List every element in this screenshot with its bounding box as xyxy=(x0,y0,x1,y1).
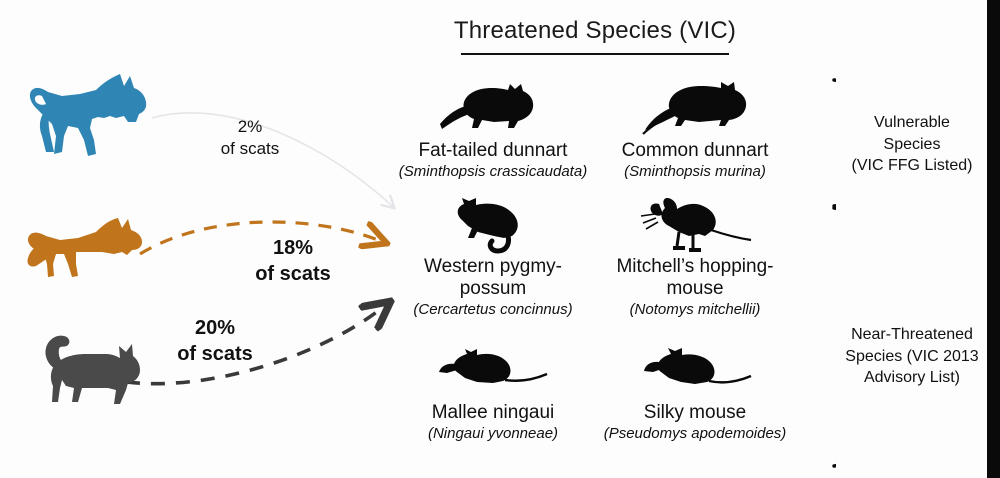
flow-label-cat: 20% of scats xyxy=(150,316,280,367)
dingo-silhouette xyxy=(24,66,150,164)
threatened-species-diagram: Threatened Species (VIC) xyxy=(0,0,1000,478)
mallee-ningaui-icon xyxy=(433,342,553,400)
right-edge-bar xyxy=(987,0,1000,478)
flow-percent-fox: 18% xyxy=(228,236,358,262)
category-label-near-threatened: Near-Threatened Species (VIC 2013 Adviso… xyxy=(832,324,992,389)
species-common-name: Silky mouse xyxy=(600,402,790,424)
category-line-1: Near-Threatened xyxy=(832,324,992,346)
category-line-1: Vulnerable xyxy=(832,112,992,134)
brace-near-threatened xyxy=(796,206,836,468)
flow-unit-dingo: of scats xyxy=(190,138,310,160)
species-common-name: Mallee ningaui xyxy=(398,402,588,424)
species-scientific-name: (Sminthopsis murina) xyxy=(600,163,790,181)
silky-mouse-icon xyxy=(635,342,755,400)
category-label-vulnerable: Vulnerable Species (VIC FFG Listed) xyxy=(832,112,992,177)
species-scientific-name: (Pseudomys apodemoides) xyxy=(600,425,790,443)
cat-silhouette xyxy=(36,332,142,416)
fox-silhouette xyxy=(26,214,144,280)
species-common-name: Common dunnart xyxy=(600,140,790,162)
species-scientific-name: (Cercartetus concinnus) xyxy=(398,301,588,319)
western-pygmy-possum-icon xyxy=(438,196,548,254)
category-line-3: Advisory List) xyxy=(832,367,992,389)
common-dunnart-icon xyxy=(635,80,755,138)
species-scientific-name: (Sminthopsis crassicaudata) xyxy=(398,163,588,181)
species-common-name: Mitchell’s hopping-mouse xyxy=(600,256,790,300)
flow-unit-fox: of scats xyxy=(228,262,358,288)
species-card-western-pygmy-possum: Western pygmy-possum (Cercartetus concin… xyxy=(398,196,588,319)
species-scientific-name: (Ningaui yvonneae) xyxy=(398,425,588,443)
brace-vulnerable xyxy=(796,78,836,208)
category-line-2: Species xyxy=(832,134,992,156)
fat-tailed-dunnart-icon xyxy=(438,80,548,138)
flow-unit-cat: of scats xyxy=(150,342,280,368)
species-card-common-dunnart: Common dunnart (Sminthopsis murina) xyxy=(600,80,790,181)
species-card-silky-mouse: Silky mouse (Pseudomys apodemoides) xyxy=(600,342,790,443)
species-common-name: Western pygmy-possum xyxy=(398,256,588,300)
species-card-mitchells-hopping-mouse: Mitchell’s hopping-mouse (Notomys mitche… xyxy=(600,196,790,319)
species-card-fat-tailed-dunnart: Fat-tailed dunnart (Sminthopsis crassica… xyxy=(398,80,588,181)
flow-percent-cat: 20% xyxy=(150,316,280,342)
flow-percent-dingo: 2% xyxy=(190,116,310,138)
species-common-name: Fat-tailed dunnart xyxy=(398,140,588,162)
category-line-3: (VIC FFG Listed) xyxy=(832,155,992,177)
category-line-2: Species (VIC 2013 xyxy=(832,346,992,368)
species-scientific-name: (Notomys mitchellii) xyxy=(600,301,790,319)
species-card-mallee-ningaui: Mallee ningaui (Ningaui yvonneae) xyxy=(398,342,588,443)
mitchells-hopping-mouse-icon xyxy=(635,196,755,254)
flow-label-fox: 18% of scats xyxy=(228,236,358,287)
flow-label-dingo: 2% of scats xyxy=(190,116,310,160)
